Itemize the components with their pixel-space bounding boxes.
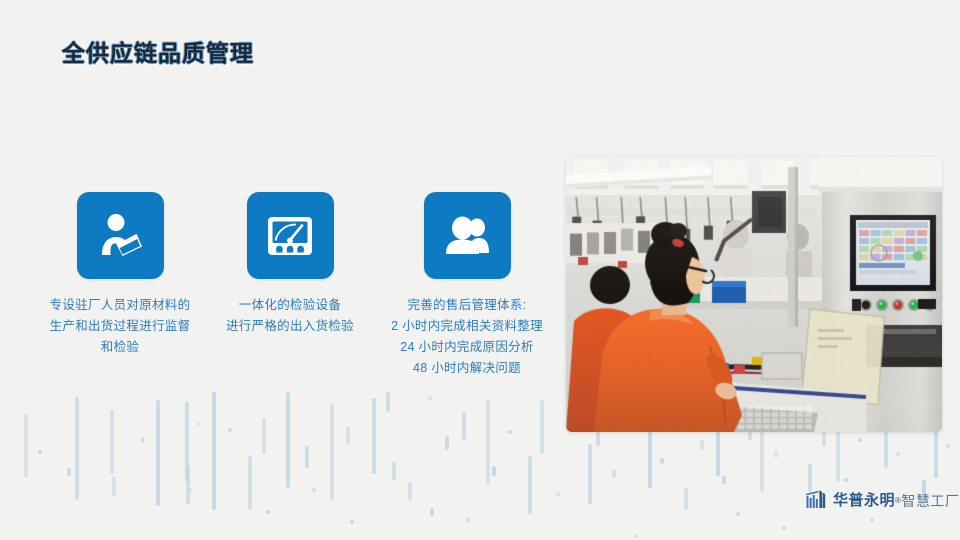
decorative-bar xyxy=(612,470,616,478)
decorative-bar xyxy=(588,444,592,504)
decorative-bar xyxy=(330,404,334,500)
decorative-bar xyxy=(188,488,192,492)
decorative-bar xyxy=(372,398,376,474)
decorative-bar xyxy=(197,422,201,426)
decorative-bar xyxy=(75,397,79,500)
decorative-bar xyxy=(508,430,512,434)
decorative-bar xyxy=(38,450,42,454)
decorative-bar xyxy=(782,526,786,530)
decorative-bar xyxy=(556,492,560,496)
decorative-bar xyxy=(466,518,470,522)
decorative-bar xyxy=(774,450,778,458)
decorative-bar xyxy=(67,468,71,476)
decorative-bar xyxy=(112,476,116,496)
decorative-bar xyxy=(736,512,740,516)
photo-canvas xyxy=(566,157,942,432)
page-title: 全供应链品质管理 xyxy=(62,34,254,68)
decorative-bar xyxy=(386,392,390,412)
factory-assembly-line-photo xyxy=(566,157,942,432)
feature-column-after-sales: 完善的售后管理体系: 2 小时内完成相关资料整理 24 小时内完成原因分析 48… xyxy=(355,192,579,379)
decorative-bar xyxy=(445,436,449,450)
decorative-bar xyxy=(212,392,216,510)
decorative-bar xyxy=(228,428,232,432)
decorative-bar xyxy=(350,520,354,524)
decorative-bar xyxy=(408,482,412,500)
decorative-bar xyxy=(540,400,544,454)
brand-logo: 华普永明®智慧工厂 xyxy=(806,489,959,509)
decorative-bar xyxy=(858,438,862,442)
decorative-bar xyxy=(822,430,826,446)
slide-root: 全供应链品质管理 专设驻厂人员对原材料的 生产和出货过程进行监督 和检验 xyxy=(0,0,960,540)
decorative-bar xyxy=(528,456,532,514)
decorative-bar xyxy=(312,488,316,492)
factory-building-mark-icon xyxy=(806,489,828,509)
decorative-bar xyxy=(462,412,466,440)
decorative-bar xyxy=(346,426,350,444)
decorative-bar xyxy=(660,458,664,464)
decorative-bar xyxy=(896,452,900,456)
decorative-bar xyxy=(286,392,290,488)
decorative-bar xyxy=(870,518,874,522)
decorative-bar xyxy=(700,440,704,450)
decorative-bar xyxy=(684,488,688,510)
decorative-bar xyxy=(141,438,145,442)
brand-name: 华普永明 xyxy=(833,493,895,509)
decorative-bar xyxy=(24,414,28,478)
users-group-icon xyxy=(424,192,511,279)
decorative-bar xyxy=(808,464,812,492)
decorative-bar xyxy=(634,534,638,538)
decorative-bar xyxy=(248,456,252,510)
decorative-bar xyxy=(492,466,496,476)
inspector-person-clipboard-icon xyxy=(77,192,164,279)
feature-caption: 完善的售后管理体系: 2 小时内完成相关资料整理 24 小时内完成原因分析 48… xyxy=(355,295,579,379)
decorative-bar xyxy=(392,462,396,480)
decorative-bar xyxy=(110,410,114,474)
measurement-gauge-meter-icon xyxy=(247,192,334,279)
decorative-bar xyxy=(946,444,950,448)
decorative-bar xyxy=(305,446,309,468)
decorative-bar xyxy=(430,508,434,516)
brand-text-block: 华普永明®智慧工厂 xyxy=(833,493,959,509)
decorative-bar xyxy=(428,396,432,400)
decorative-bar xyxy=(722,476,726,484)
decorative-bar xyxy=(844,478,848,482)
decorative-bar xyxy=(185,402,189,482)
decorative-bar xyxy=(186,466,190,504)
decorative-bar xyxy=(266,510,270,514)
decorative-bar xyxy=(156,400,160,506)
decorative-bar xyxy=(262,418,266,454)
decorative-bar xyxy=(486,400,490,484)
brand-sub-name: 智慧工厂 xyxy=(901,493,959,509)
